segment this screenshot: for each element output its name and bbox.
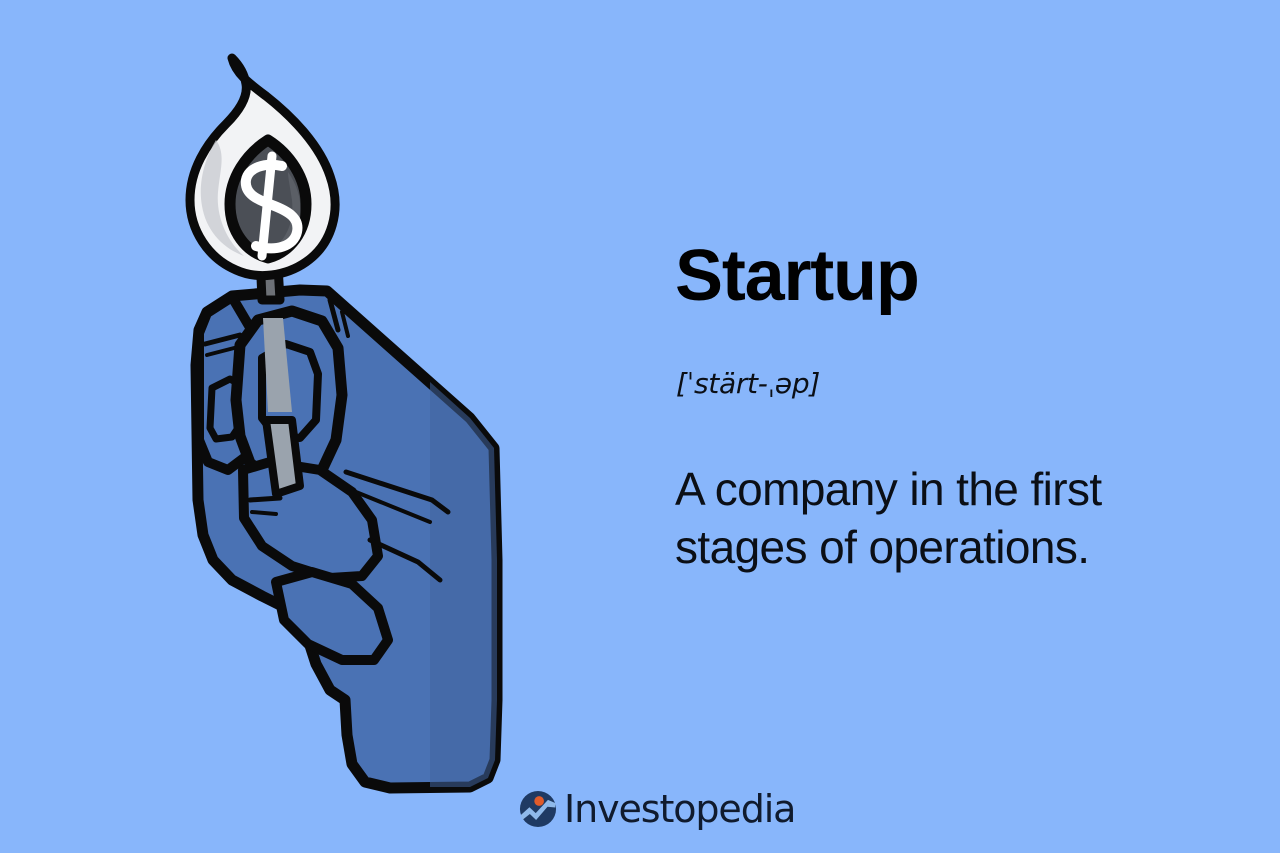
hand-crease-back-4 [250,498,280,500]
definition-text-column: Startup [ˈstärt-ˌəp] A company in the fi… [675,0,1235,853]
flame-group [190,58,335,276]
hand-group [196,290,497,788]
hand-crease-back-5 [252,512,276,514]
definition-line-1: A company in the first [675,460,1175,518]
definition-card: Startup [ˈstärt-ˌəp] A company in the fi… [0,0,1280,853]
hand-shade [430,382,497,787]
illustration-hand-holding-match [0,0,640,853]
investopedia-circle-chart-icon [519,790,557,828]
definition-text: A company in the first stages of operati… [675,460,1175,576]
pronunciation-text: [ˈstärt-ˌəp] [676,370,820,398]
term-title: Startup [675,240,919,312]
matchstick-lower [266,420,300,494]
investopedia-logo: Investopedia [519,786,795,832]
investopedia-wordmark: Investopedia [564,790,795,828]
definition-line-2: stages of operations. [675,518,1175,576]
